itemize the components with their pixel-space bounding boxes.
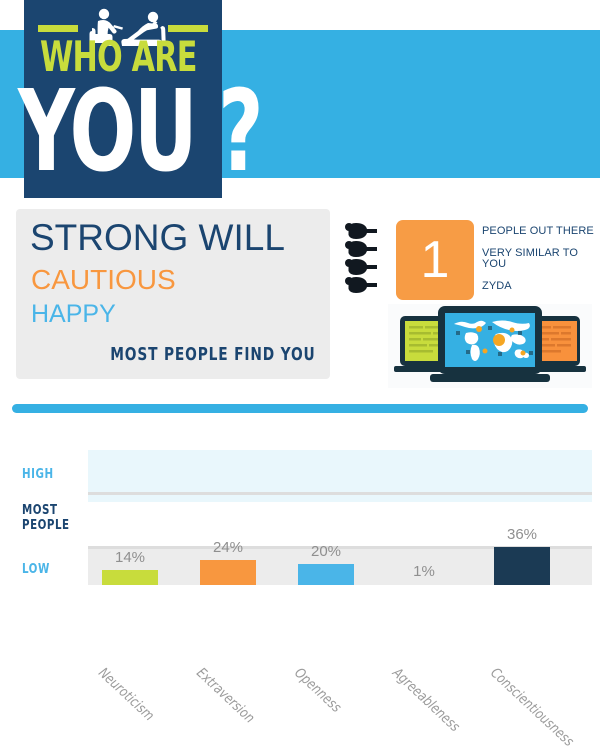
crowd-of-people-icon xyxy=(344,222,392,298)
bar-conscientiousness[interactable] xyxy=(494,547,550,585)
category-label: Openness xyxy=(291,665,344,716)
card-footnote: MOST PEOPLE FIND YOU xyxy=(111,344,316,365)
page-header: WHO ARE ? YOU xyxy=(0,0,600,200)
axis-label-most-people: MOST PEOPLE xyxy=(22,504,70,534)
category-label: Extraversion xyxy=(193,665,257,727)
category-label: Neuroticism xyxy=(95,665,157,724)
result-card: STRONG WILL CAUTIOUS HAPPY MOST PEOPLE F… xyxy=(16,209,330,379)
chart-bars: 14%Neuroticism24%Extraversion20%Openness… xyxy=(88,440,592,660)
bar-extraversion[interactable] xyxy=(200,560,256,585)
bar-neuroticism[interactable] xyxy=(102,570,158,585)
trait-secondary: CAUTIOUS xyxy=(31,265,176,296)
axis-label-most-people-line1: MOST xyxy=(22,503,58,518)
axis-label-most-people-line2: PEOPLE xyxy=(22,518,70,533)
bar-value-label: 20% xyxy=(292,543,360,560)
similar-line-3: ZYDA xyxy=(482,281,594,292)
bar-value-label: 14% xyxy=(96,549,164,566)
similar-count-value: 1 xyxy=(396,220,474,300)
bar-value-label: 1% xyxy=(390,563,458,580)
similar-count-badge: 1 xyxy=(396,220,474,300)
bar-openness[interactable] xyxy=(298,564,354,585)
similar-people-panel: 1 PEOPLE OUT THERE VERY SIMILAR TO YOU Z… xyxy=(344,212,592,387)
trait-primary: STRONG WILL xyxy=(30,218,285,259)
dash-right-icon xyxy=(168,25,208,32)
category-label: Agreeableness xyxy=(389,665,463,735)
bar-value-label: 36% xyxy=(488,526,556,543)
section-divider xyxy=(12,404,588,413)
personality-chart: HIGH MOST PEOPLE LOW 14%Neuroticism24%Ex… xyxy=(0,440,600,660)
trait-tertiary: HAPPY xyxy=(31,301,116,329)
similar-line-2: VERY SIMILAR TO YOU xyxy=(482,248,594,270)
laptops-world-map-icon xyxy=(388,304,592,388)
bar-value-label: 24% xyxy=(194,539,262,556)
bar-agreeableness[interactable] xyxy=(396,584,452,585)
axis-label-high: HIGH xyxy=(22,468,54,483)
similar-line-1: PEOPLE OUT THERE xyxy=(482,226,594,237)
axis-label-low: LOW xyxy=(22,563,50,578)
logo-question-mark: ? xyxy=(218,76,264,188)
similar-text-block: PEOPLE OUT THERE VERY SIMILAR TO YOU ZYD… xyxy=(482,226,594,303)
dash-left-icon xyxy=(38,25,78,32)
logo-line-2: YOU xyxy=(18,76,197,188)
category-label: Conscientiousness xyxy=(487,665,576,750)
